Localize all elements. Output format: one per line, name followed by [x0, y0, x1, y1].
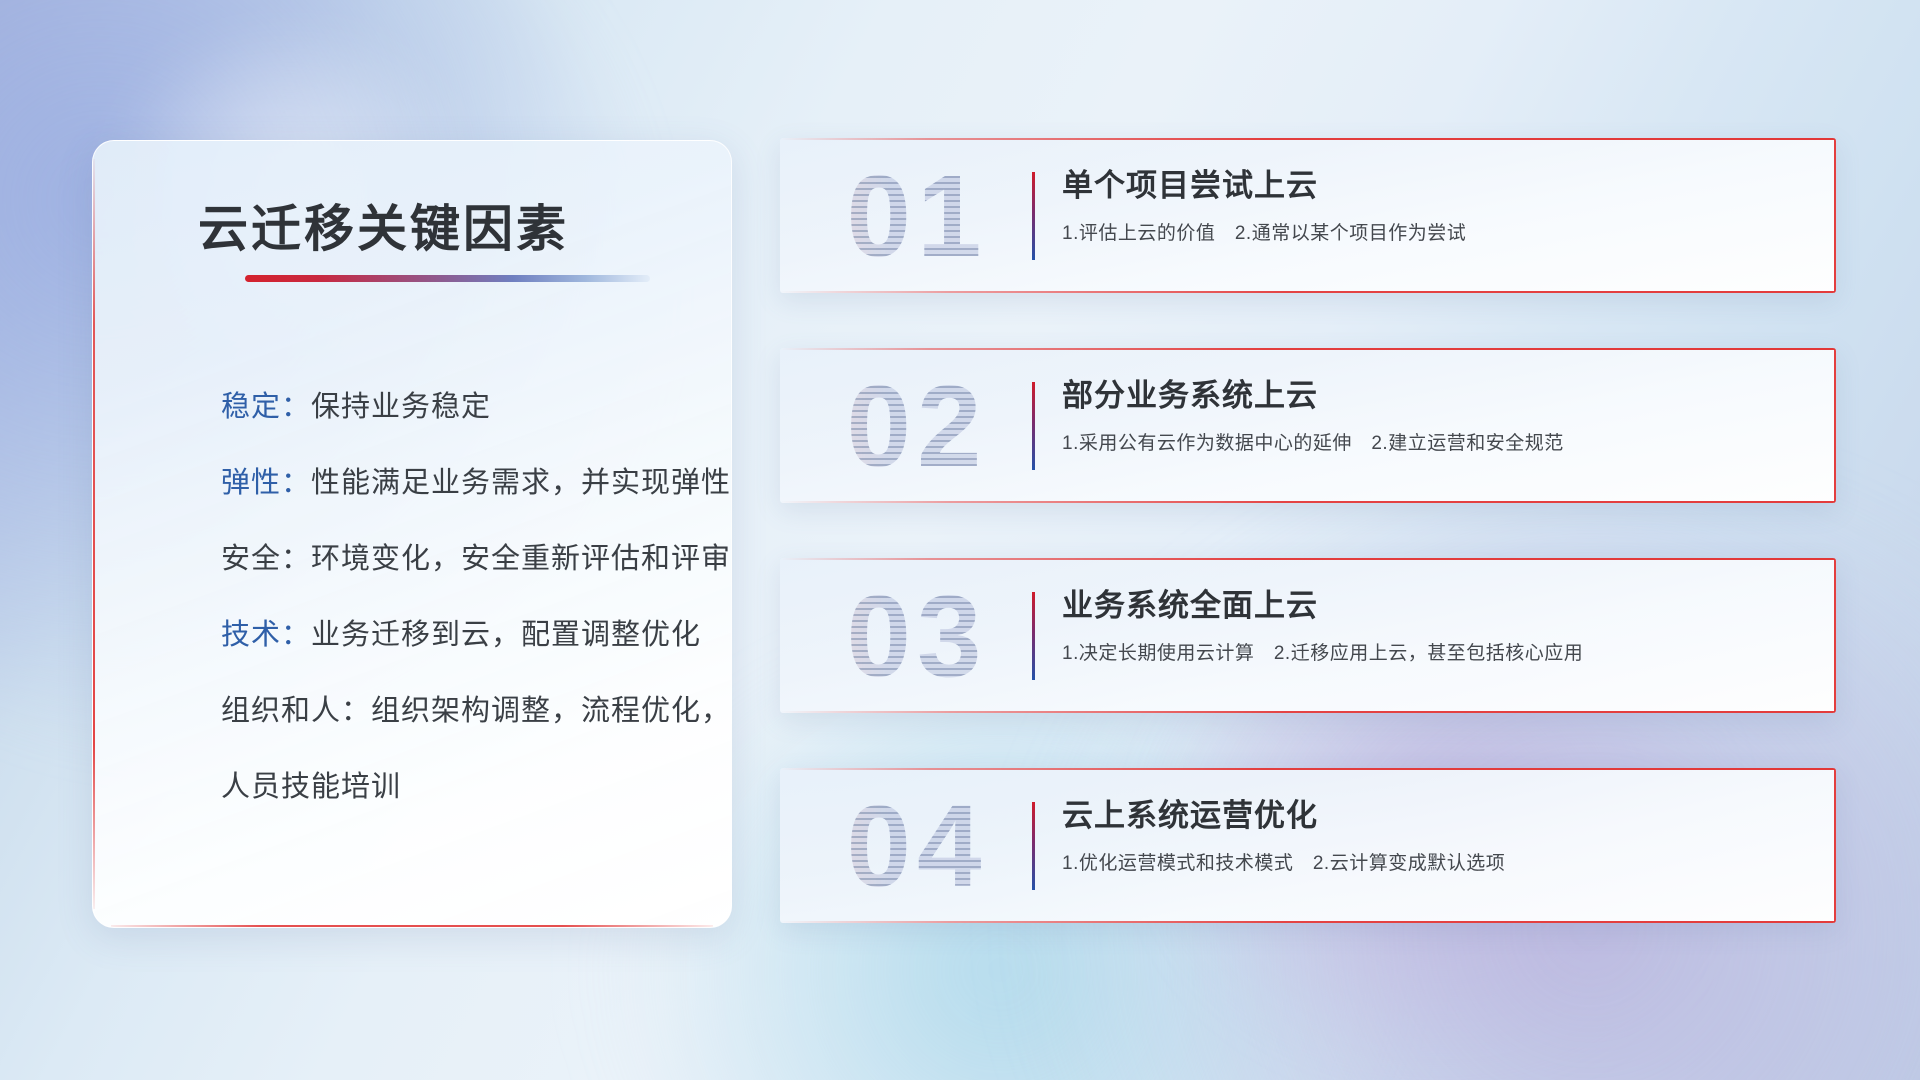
list-item-key: 稳定： [221, 391, 311, 423]
card-bottom-accent-line [780, 291, 1836, 293]
card-number-watermark: 02 [822, 356, 1012, 496]
card-right-accent-line [1834, 348, 1836, 503]
slide-canvas: 云迁移关键因素 稳定：保持业务稳定 弹性：性能满足业务需求，并实现弹性 安全：环… [0, 0, 1920, 1080]
card-divider-bar [1032, 592, 1035, 680]
key-factors-list: 稳定：保持业务稳定 弹性：性能满足业务需求，并实现弹性 安全：环境变化，安全重新… [221, 369, 691, 825]
card-number-watermark: 01 [822, 146, 1012, 286]
migration-stage-cards: 01 单个项目尝试上云 1.评估上云的价值 2.通常以某个项目作为尝试 02 部… [780, 138, 1836, 978]
list-item-key: 安全： [221, 543, 311, 575]
stage-card[interactable]: 04 云上系统运营优化 1.优化运营模式和技术模式 2.云计算变成默认选项 [780, 768, 1836, 923]
card-title: 业务系统全面上云 [1062, 584, 1810, 628]
card-body: 单个项目尝试上云 1.评估上云的价值 2.通常以某个项目作为尝试 [1062, 164, 1810, 248]
card-body: 部分业务系统上云 1.采用公有云作为数据中心的延伸 2.建立运营和安全规范 [1062, 374, 1810, 458]
card-divider-bar [1032, 172, 1035, 260]
card-description: 1.优化运营模式和技术模式 2.云计算变成默认选项 [1062, 850, 1810, 878]
card-body: 业务系统全面上云 1.决定长期使用云计算 2.迁移应用上云，甚至包括核心应用 [1062, 584, 1810, 668]
key-factors-panel: 云迁移关键因素 稳定：保持业务稳定 弹性：性能满足业务需求，并实现弹性 安全：环… [92, 140, 732, 928]
list-item-text: 组织架构调整，流程优化， [371, 695, 731, 727]
list-item-text: 性能满足业务需求，并实现弹性 [311, 467, 731, 499]
card-bottom-accent-line [780, 711, 1836, 713]
card-right-accent-line [1834, 768, 1836, 923]
card-right-accent-line [1834, 558, 1836, 713]
list-item-key: 技术： [221, 619, 311, 651]
title-underline-gradient [245, 275, 650, 282]
list-item-text: 业务迁移到云，配置调整优化 [311, 619, 701, 651]
slide-stage: 云迁移关键因素 稳定：保持业务稳定 弹性：性能满足业务需求，并实现弹性 安全：环… [0, 0, 1920, 1080]
card-title: 云上系统运营优化 [1062, 794, 1810, 838]
card-divider-bar [1032, 802, 1035, 890]
card-top-accent-line [780, 348, 1836, 350]
list-item-text: 环境变化，安全重新评估和评审 [311, 543, 731, 575]
card-right-accent-line [1834, 138, 1836, 293]
card-top-accent-line [780, 768, 1836, 770]
card-top-accent-line [780, 558, 1836, 560]
card-title: 单个项目尝试上云 [1062, 164, 1810, 208]
panel-bottom-accent-line [111, 925, 713, 927]
list-item: 弹性：性能满足业务需求，并实现弹性 [221, 445, 691, 521]
list-item: 安全：环境变化，安全重新评估和评审 [221, 521, 691, 597]
list-item-text: 保持业务稳定 [311, 391, 491, 423]
stage-card[interactable]: 02 部分业务系统上云 1.采用公有云作为数据中心的延伸 2.建立运营和安全规范 [780, 348, 1836, 503]
card-description: 1.决定长期使用云计算 2.迁移应用上云，甚至包括核心应用 [1062, 640, 1810, 668]
list-item-text: 人员技能培训 [221, 771, 401, 803]
list-item-key: 组织和人： [221, 695, 371, 727]
card-title: 部分业务系统上云 [1062, 374, 1810, 418]
card-divider-bar [1032, 382, 1035, 470]
card-bottom-accent-line [780, 501, 1836, 503]
card-number-watermark: 04 [822, 776, 1012, 916]
card-description: 1.评估上云的价值 2.通常以某个项目作为尝试 [1062, 220, 1810, 248]
card-bottom-accent-line [780, 921, 1836, 923]
card-number-watermark: 03 [822, 566, 1012, 706]
card-body: 云上系统运营优化 1.优化运营模式和技术模式 2.云计算变成默认选项 [1062, 794, 1810, 878]
list-item: 技术：业务迁移到云，配置调整优化 [221, 597, 691, 673]
stage-card[interactable]: 03 业务系统全面上云 1.决定长期使用云计算 2.迁移应用上云，甚至包括核心应… [780, 558, 1836, 713]
list-item: 人员技能培训 [221, 749, 691, 825]
panel-left-accent-line [93, 159, 95, 909]
list-item-key: 弹性： [221, 467, 311, 499]
stage-card[interactable]: 01 单个项目尝试上云 1.评估上云的价值 2.通常以某个项目作为尝试 [780, 138, 1836, 293]
card-top-accent-line [780, 138, 1836, 140]
list-item: 组织和人：组织架构调整，流程优化， [221, 673, 691, 749]
list-item: 稳定：保持业务稳定 [221, 369, 691, 445]
page-title: 云迁移关键因素 [198, 189, 569, 261]
card-description: 1.采用公有云作为数据中心的延伸 2.建立运营和安全规范 [1062, 430, 1810, 458]
